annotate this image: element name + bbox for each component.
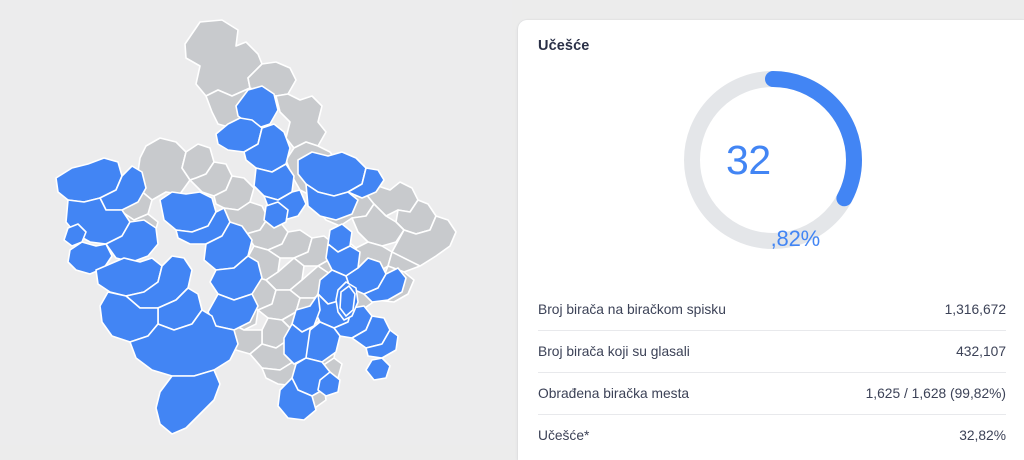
stat-label: Učešće* (538, 428, 589, 443)
stat-value: 1,316,672 (945, 302, 1006, 317)
donut-center-label: 32 ,82% (680, 67, 866, 253)
card-title: Učešće (538, 38, 589, 54)
kosovo-map-svg[interactable] (0, 0, 512, 445)
stat-value: 432,107 (956, 344, 1006, 359)
map-regions-highlighted[interactable] (56, 86, 406, 434)
stat-label: Obrađena biračka mesta (538, 386, 689, 401)
table-row: Obrađena biračka mesta 1,625 / 1,628 (99… (538, 372, 1006, 414)
turnout-card: Učešće 32 ,82% Broj birača na biračkom s… (518, 20, 1024, 460)
results-page: Učešće 32 ,82% Broj birača na biračkom s… (0, 0, 1024, 445)
turnout-donut-chart: 32 ,82% (680, 67, 866, 253)
stat-value: 1,625 / 1,628 (99,82%) (866, 386, 1006, 401)
table-row: Broj birača koji su glasali 432,107 (538, 330, 1006, 372)
donut-percent-integer: 32 (726, 140, 771, 181)
stat-label: Broj birača na biračkom spisku (538, 302, 726, 317)
map-region-highlighted[interactable] (156, 370, 220, 434)
stats-table: Broj birača na biračkom spisku 1,316,672… (538, 289, 1006, 456)
map-region-highlighted[interactable] (366, 358, 390, 380)
table-row: Učešće* 32,82% (538, 414, 1006, 456)
municipality-map-panel (0, 0, 512, 445)
stat-label: Broj birača koji su glasali (538, 344, 690, 359)
table-row: Broj birača na biračkom spisku 1,316,672 (538, 289, 1006, 330)
donut-percent-fraction: ,82% (771, 228, 820, 253)
stat-value: 32,82% (959, 428, 1006, 443)
